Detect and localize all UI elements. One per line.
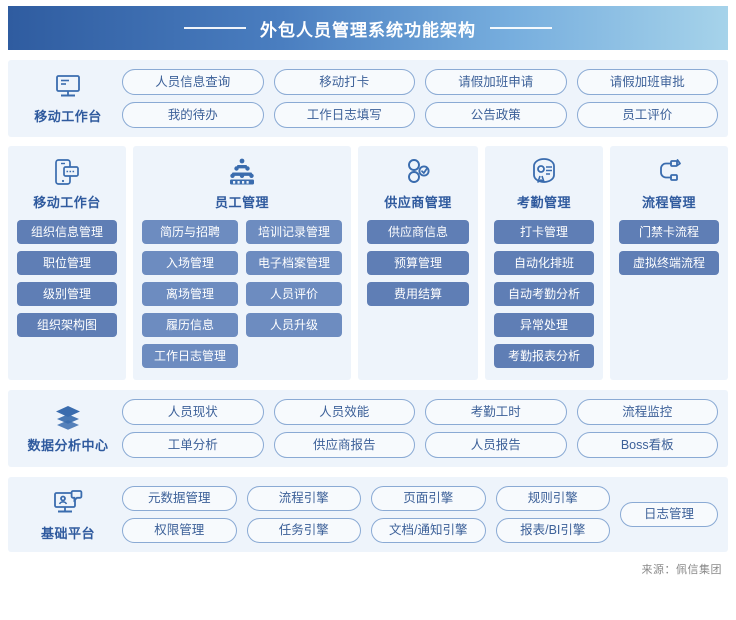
card-item[interactable]: 离场管理 [142,282,238,306]
section-base-platform: 基础平台 元数据管理 流程引擎 页面引擎 规则引擎 日志管理 权限管理 任务引擎… [8,477,728,552]
card-column: 门禁卡流程 虚拟终端流程 [619,220,719,275]
base-platform-item[interactable]: 规则引擎 [496,486,611,511]
base-platform-item[interactable]: 权限管理 [122,518,237,543]
analytics-item[interactable]: 人员效能 [274,399,416,425]
card-header: 移动工作台 [33,156,101,211]
analytics-items: 人员现状 人员效能 考勤工时 流程监控 工单分析 供应商报告 人员报告 Boss… [122,399,718,458]
card-body: 简历与招聘 入场管理 离场管理 履历信息 工作日志管理 培训记录管理 电子档案管… [142,220,342,368]
workbench-item[interactable]: 移动打卡 [274,69,416,95]
card-body: 组织信息管理 职位管理 级别管理 组织架构图 [17,220,117,337]
source-note: 来源：佩信集团 [0,561,722,577]
org-pyramid-icon [225,156,259,188]
analytics-item[interactable]: 供应商报告 [274,432,416,458]
section-data-analytics: 数据分析中心 人员现状 人员效能 考勤工时 流程监控 工单分析 供应商报告 人员… [8,390,728,467]
card-item[interactable]: 虚拟终端流程 [619,251,719,275]
title-banner: 外包人员管理系统功能架构 [8,6,728,50]
card-supplier-management: 供应商管理 供应商信息 预算管理 费用结算 [358,146,478,380]
card-item[interactable]: 组织信息管理 [17,220,117,244]
card-item[interactable]: 供应商信息 [367,220,469,244]
card-column: 组织信息管理 职位管理 级别管理 组织架构图 [17,220,117,337]
card-organization: 移动工作台 组织信息管理 职位管理 级别管理 组织架构图 [8,146,126,380]
analytics-item[interactable]: 人员报告 [425,432,567,458]
base-platform-item[interactable]: 页面引擎 [371,486,486,511]
card-header: 考勤管理 [517,156,571,211]
banner-rule-left [184,27,246,29]
card-item[interactable]: 人员评价 [246,282,342,306]
workbench-item[interactable]: 请假加班审批 [577,69,719,95]
workbench-items: 人员信息查询 移动打卡 请假加班申请 请假加班审批 我的待办 工作日志填写 公告… [122,69,718,128]
category-label: 基础平台 [41,523,95,542]
card-header: 供应商管理 [384,156,452,211]
card-item[interactable]: 异常处理 [494,313,594,337]
card-column: 打卡管理 自动化排班 自动考勤分析 异常处理 考勤报表分析 [494,220,594,368]
analytics-item[interactable]: Boss看板 [577,432,719,458]
workbench-item[interactable]: 请假加班申请 [425,69,567,95]
mobile-device-icon [51,156,83,188]
card-item[interactable]: 自动化排班 [494,251,594,275]
card-item[interactable]: 预算管理 [367,251,469,275]
card-header: 员工管理 [215,156,269,211]
card-column: 培训记录管理 电子档案管理 人员评价 人员升级 [246,220,342,368]
attendance-clock-icon [528,156,560,188]
page-title: 外包人员管理系统功能架构 [260,16,476,41]
card-title: 员工管理 [215,192,269,211]
card-item[interactable]: 简历与招聘 [142,220,238,244]
monitor-person-icon [52,488,84,518]
base-platform-item-log[interactable]: 日志管理 [620,502,718,527]
base-platform-items: 元数据管理 流程引擎 页面引擎 规则引擎 日志管理 权限管理 任务引擎 文档/通… [122,486,718,543]
module-cards-row: 移动工作台 组织信息管理 职位管理 级别管理 组织架构图 [8,146,728,380]
workbench-item[interactable]: 工作日志填写 [274,102,416,128]
card-column: 简历与招聘 入场管理 离场管理 履历信息 工作日志管理 [142,220,238,368]
card-item[interactable]: 入场管理 [142,251,238,275]
workbench-item[interactable]: 公告政策 [425,102,567,128]
card-item[interactable]: 考勤报表分析 [494,344,594,368]
card-attendance-management: 考勤管理 打卡管理 自动化排班 自动考勤分析 异常处理 考勤报表分析 [485,146,603,380]
card-body: 门禁卡流程 虚拟终端流程 [619,220,719,275]
card-item[interactable]: 打卡管理 [494,220,594,244]
category-label: 移动工作台 [34,106,102,125]
analytics-item[interactable]: 流程监控 [577,399,719,425]
monitor-icon [53,73,83,101]
analytics-item[interactable]: 人员现状 [122,399,264,425]
workbench-item[interactable]: 员工评价 [577,102,719,128]
category-base-platform: 基础平台 [14,488,122,542]
card-item[interactable]: 自动考勤分析 [494,282,594,306]
workbench-item[interactable]: 我的待办 [122,102,264,128]
process-flow-icon [653,156,685,188]
card-item[interactable]: 履历信息 [142,313,238,337]
card-column: 供应商信息 预算管理 费用结算 [367,220,469,306]
analytics-item[interactable]: 考勤工时 [425,399,567,425]
card-body: 供应商信息 预算管理 费用结算 [367,220,469,306]
base-platform-item[interactable]: 元数据管理 [122,486,237,511]
card-title: 移动工作台 [33,192,101,211]
card-title: 流程管理 [642,192,696,211]
card-process-management: 流程管理 门禁卡流程 虚拟终端流程 [610,146,728,380]
layers-icon [53,404,83,430]
card-item[interactable]: 工作日志管理 [142,344,238,368]
base-platform-item[interactable]: 报表/BI引擎 [496,518,611,543]
card-item[interactable]: 职位管理 [17,251,117,275]
section-mobile-workbench: 移动工作台 人员信息查询 移动打卡 请假加班申请 请假加班审批 我的待办 工作日… [8,60,728,137]
card-item[interactable]: 级别管理 [17,282,117,306]
banner-rule-right [490,27,552,29]
card-item[interactable]: 门禁卡流程 [619,220,719,244]
card-header: 流程管理 [642,156,696,211]
category-data-analytics: 数据分析中心 [14,404,122,454]
base-platform-item[interactable]: 文档/通知引擎 [371,518,486,543]
card-item[interactable]: 培训记录管理 [246,220,342,244]
card-item[interactable]: 人员升级 [246,313,342,337]
workbench-item[interactable]: 人员信息查询 [122,69,264,95]
card-item[interactable]: 费用结算 [367,282,469,306]
card-item[interactable]: 组织架构图 [17,313,117,337]
card-title: 供应商管理 [384,192,452,211]
card-title: 考勤管理 [517,192,571,211]
card-employee-management: 员工管理 简历与招聘 入场管理 离场管理 履历信息 工作日志管理 培训记录管理 … [133,146,351,380]
base-platform-item[interactable]: 任务引擎 [247,518,362,543]
users-check-icon [402,156,434,188]
card-item[interactable]: 电子档案管理 [246,251,342,275]
category-label: 数据分析中心 [27,435,108,454]
card-body: 打卡管理 自动化排班 自动考勤分析 异常处理 考勤报表分析 [494,220,594,368]
analytics-item[interactable]: 工单分析 [122,432,264,458]
base-platform-item[interactable]: 流程引擎 [247,486,362,511]
category-mobile-workbench: 移动工作台 [14,73,122,125]
